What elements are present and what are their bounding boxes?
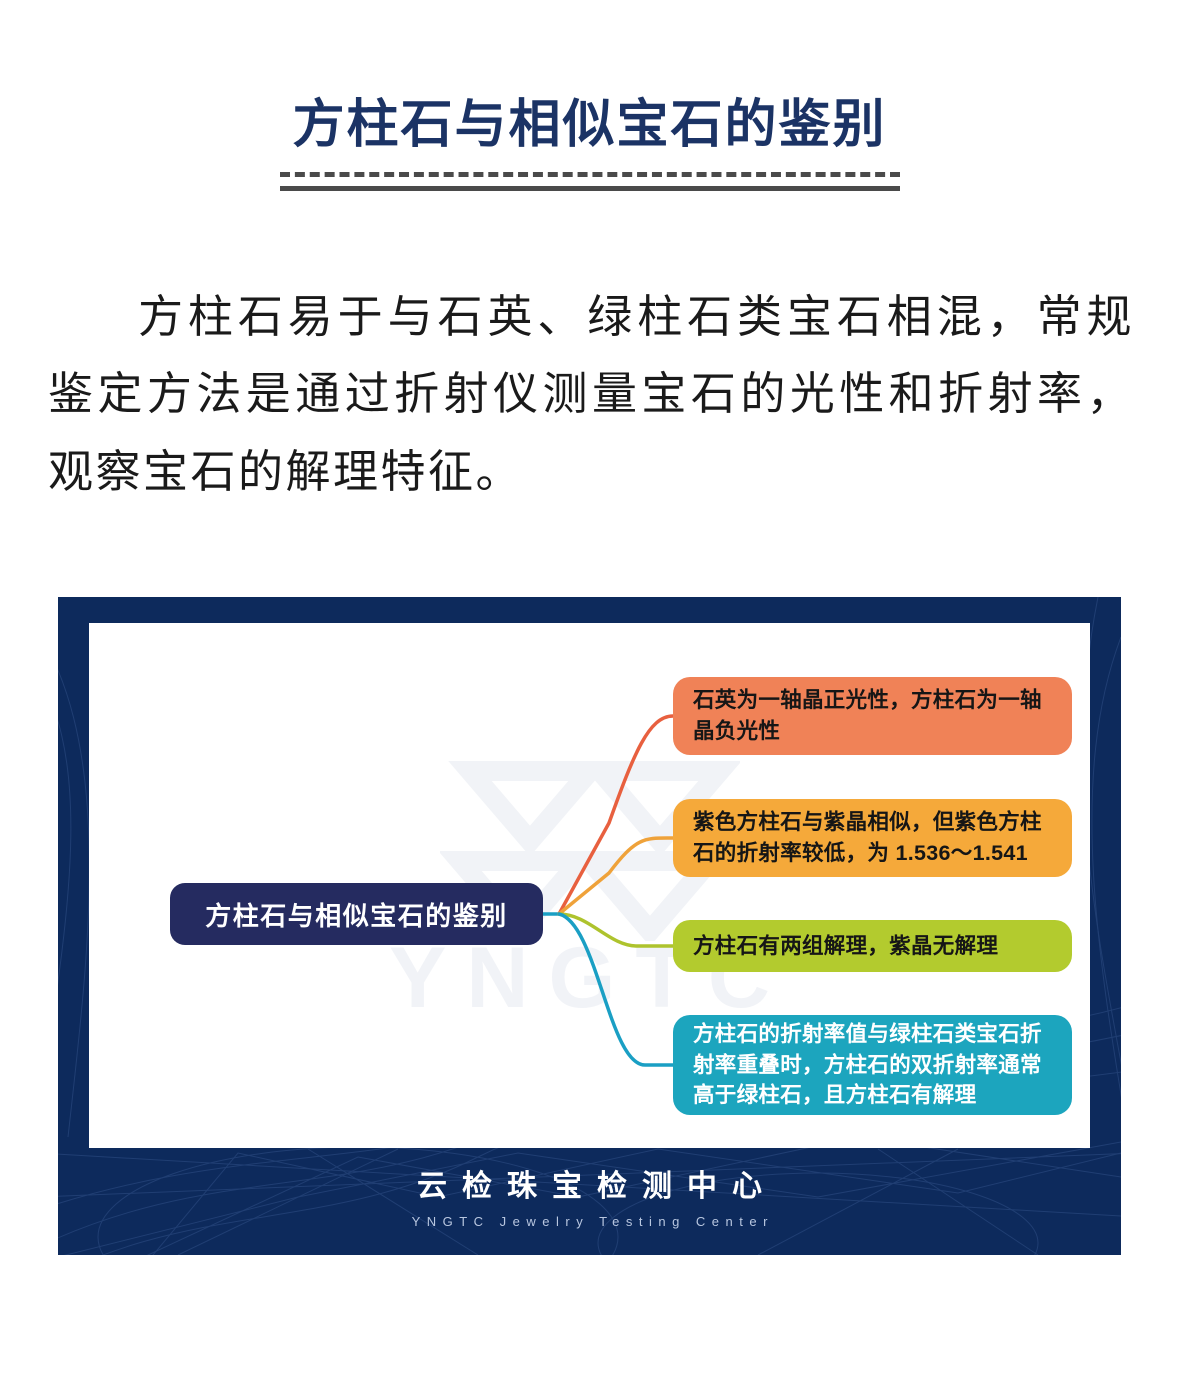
connector-branch-4 xyxy=(559,914,673,1065)
body-paragraph: 方柱石易于与石英、绿柱石类宝石相混，常规鉴定方法是通过折射仪测量宝石的光性和折射… xyxy=(48,278,1134,510)
mindmap-branch-label-2: 紫色方柱石与紫晶相似，但紫色方柱石的折射率较低，为 1.536～1.541 xyxy=(693,807,1052,868)
title-solid-rule xyxy=(280,186,900,191)
mindmap-branch-label-4: 方柱石的折射率值与绿柱石类宝石折射率重叠时，方柱石的双折射率通常高于绿柱石，且方… xyxy=(693,1019,1052,1111)
mindmap-branch-node-1[interactable]: 石英为一轴晶正光性，方柱石为一轴晶负光性 xyxy=(673,677,1072,755)
mindmap-branch-node-4[interactable]: 方柱石的折射率值与绿柱石类宝石折射率重叠时，方柱石的双折射率通常高于绿柱石，且方… xyxy=(673,1015,1072,1115)
mindmap-card: YNGTC 方柱石与相似宝石的鉴别 石英为一轴晶正光性，方柱石为一轴晶负光性 xyxy=(58,597,1121,1255)
mindmap-branch-node-3[interactable]: 方柱石有两组解理，紫晶无解理 xyxy=(673,920,1072,972)
title-rules xyxy=(280,172,900,191)
mindmap-root-node[interactable]: 方柱石与相似宝石的鉴别 xyxy=(170,883,543,945)
mindmap-branch-node-2[interactable]: 紫色方柱石与紫晶相似，但紫色方柱石的折射率较低，为 1.536～1.541 xyxy=(673,799,1072,877)
mindmap: 方柱石与相似宝石的鉴别 石英为一轴晶正光性，方柱石为一轴晶负光性 紫色方柱石与紫… xyxy=(89,623,1090,1148)
mindmap-board: YNGTC 方柱石与相似宝石的鉴别 石英为一轴晶正光性，方柱石为一轴晶负光性 xyxy=(89,623,1090,1148)
title-dashed-rule xyxy=(280,172,900,177)
page-title-block: 方柱石与相似宝石的鉴别 xyxy=(0,96,1179,191)
connector-branch-2 xyxy=(559,838,673,914)
mindmap-branch-label-3: 方柱石有两组解理，紫晶无解理 xyxy=(693,931,998,962)
page-title: 方柱石与相似宝石的鉴别 xyxy=(0,96,1179,156)
mindmap-branch-label-1: 石英为一轴晶正光性，方柱石为一轴晶负光性 xyxy=(693,685,1052,746)
footer-brand-cn: 云检珠宝检测中心 xyxy=(58,1170,1121,1203)
mindmap-root-label: 方柱石与相似宝石的鉴别 xyxy=(205,896,508,933)
card-footer: 云检珠宝检测中心 YNGTC Jewelry Testing Center xyxy=(58,1148,1121,1255)
connector-branch-1 xyxy=(559,716,673,914)
footer-brand-en: YNGTC Jewelry Testing Center xyxy=(58,1214,1121,1229)
